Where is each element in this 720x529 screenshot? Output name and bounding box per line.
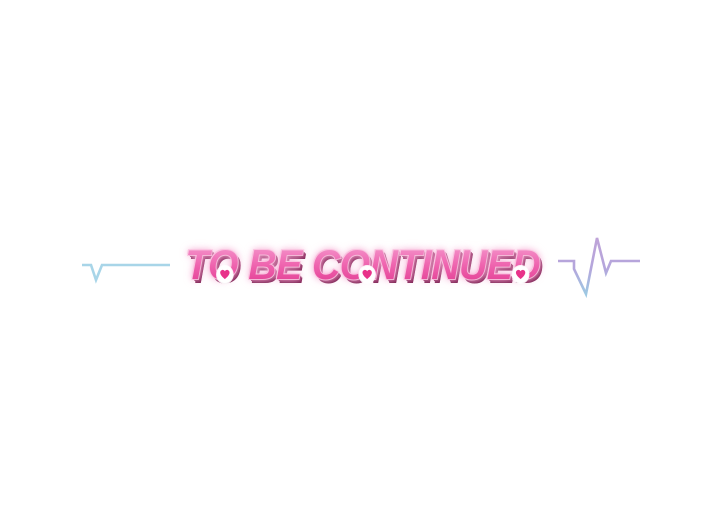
ekg-line-left-icon <box>78 228 174 302</box>
ekg-line-right-icon <box>552 228 644 302</box>
page-title: TO BE CONTINUED TO BE CONTINUED TO BE CO… <box>186 244 541 286</box>
to-be-continued-banner: TO BE CONTINUED TO BE CONTINUED TO BE CO… <box>0 228 720 302</box>
canvas: TO BE CONTINUED TO BE CONTINUED TO BE CO… <box>0 0 720 529</box>
headline-fill-layer: TO BE CONTINUED <box>186 244 541 286</box>
headline-container: TO BE CONTINUED TO BE CONTINUED TO BE CO… <box>168 228 558 302</box>
